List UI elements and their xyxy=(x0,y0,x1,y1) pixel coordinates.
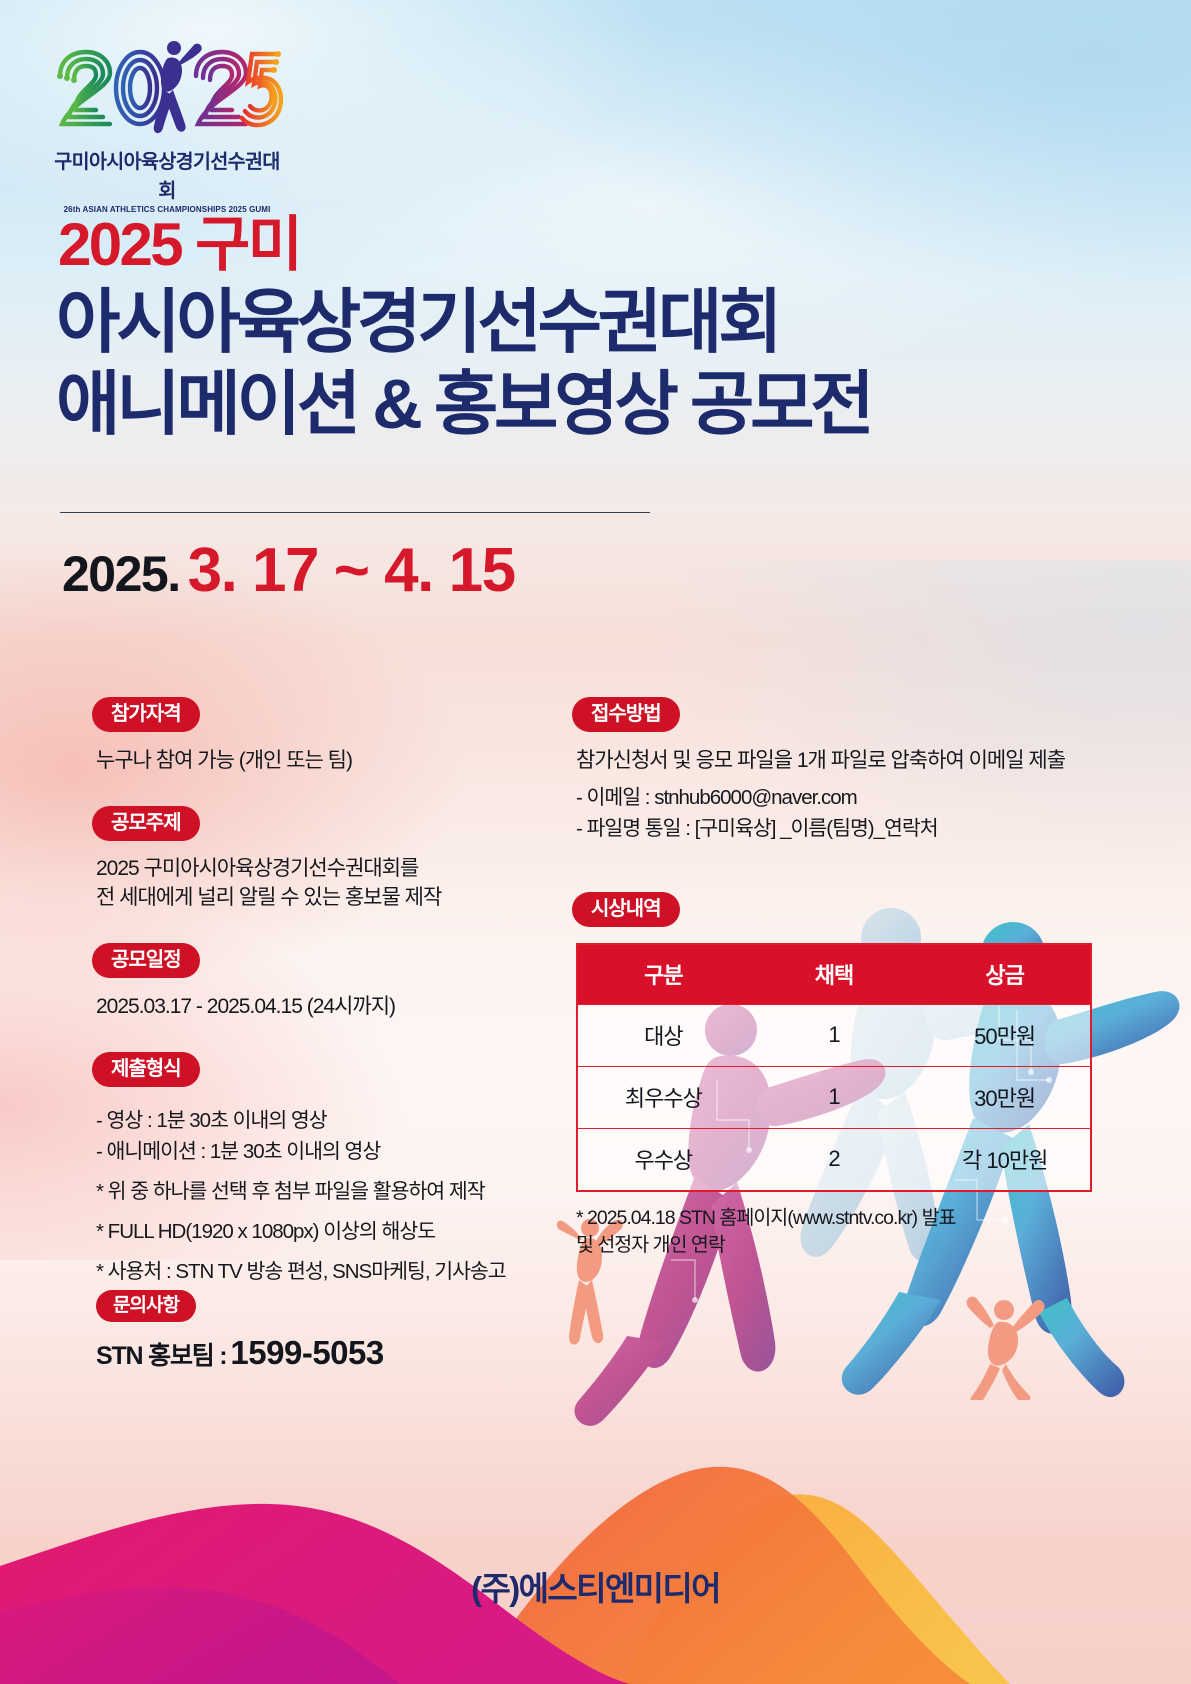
logo-2025-mark xyxy=(46,34,286,144)
section-format: 제출형식 - 영상 : 1분 30초 이내의 영상 - 애니메이션 : 1분 3… xyxy=(92,1052,562,1288)
prize-col-amount: 상금 xyxy=(919,945,1090,1005)
table-row: 대상 1 50만원 xyxy=(578,1005,1090,1067)
submission-item: - 파일명 통일 : [구미육상] _이름(팀명)_연락처 xyxy=(576,813,1112,844)
poster-headline: 2025 구미 아시아육상경기선수권대회 애니메이션 & 홍보영상 공모전 xyxy=(56,215,1066,442)
pill-eligibility: 참가자격 xyxy=(92,697,200,732)
format-item: - 영상 : 1분 30초 이내의 영상 xyxy=(96,1105,562,1136)
inquiry-phone: 1599-5053 xyxy=(230,1334,383,1371)
section-awards: 시상내역 구분 채택 상금 대상 1 50만원 xyxy=(572,892,1112,1259)
logo-korean-name: 구미아시아육상경기선수권대회 xyxy=(46,145,288,203)
headline-line-2: 아시아육상경기선수권대회 xyxy=(56,285,1066,361)
format-item: - 애니메이션 : 1분 30초 이내의 영상 xyxy=(96,1136,562,1167)
date-banner: 2025.3. 17 ~ 4. 15 xyxy=(62,535,515,606)
inquiry-label: STN 홍보팀 : xyxy=(96,1342,226,1370)
table-row: 우수상 2 각 10만원 xyxy=(578,1129,1090,1191)
poster-canvas: 구미아시아육상경기선수권대회 26th ASIAN ATHLETICS CHAM… xyxy=(0,0,1191,1684)
headline-line-3: 애니메이션 & 홍보영상 공모전 xyxy=(56,367,1066,443)
section-eligibility: 참가자격 누구나 참여 가능 (개인 또는 팀) xyxy=(92,697,562,776)
schedule-text: 2025.03.17 - 2025.04.15 (24시까지) xyxy=(96,992,562,1022)
submission-item: - 이메일 : stnhub6000@naver.com xyxy=(576,782,1112,813)
section-theme: 공모주제 2025 구미아시아육상경기선수권대회를 전 세대에게 널리 알릴 수… xyxy=(92,806,562,913)
prize-table-wrapper: 구분 채택 상금 대상 1 50만원 최우수상 1 xyxy=(576,943,1092,1192)
section-submission: 접수방법 참가신청서 및 응모 파일을 1개 파일로 압축하여 이메일 제출 -… xyxy=(572,697,1112,844)
prize-col-count: 채택 xyxy=(749,945,920,1005)
inquiry-contact-line: STN 홍보팀 :1599-5053 xyxy=(96,1334,384,1372)
organizer-name: (주)에스티엔미디어 xyxy=(471,1570,720,1607)
prize-table: 구분 채택 상금 대상 1 50만원 최우수상 1 xyxy=(578,945,1090,1190)
section-inquiry: 문의사항 STN 홍보팀 :1599-5053 xyxy=(96,1290,384,1372)
prize-cell-count: 2 xyxy=(749,1129,920,1191)
awards-note-line-2: 및 선정자 개인 연락 xyxy=(576,1232,1112,1259)
prize-cell-count: 1 xyxy=(749,1067,920,1129)
prize-cell-category: 최우수상 xyxy=(578,1067,749,1129)
pill-inquiry: 문의사항 xyxy=(96,1290,196,1322)
table-row: 최우수상 1 30만원 xyxy=(578,1067,1090,1129)
pill-format: 제출형식 xyxy=(92,1052,200,1087)
format-item: * FULL HD(1920 x 1080px) 이상의 해상도 xyxy=(96,1216,562,1247)
mountain-decoration xyxy=(0,1354,1191,1684)
pill-awards: 시상내역 xyxy=(572,892,680,927)
small-runner-figure-right xyxy=(960,1290,1050,1400)
event-logo: 구미아시아육상경기선수권대회 26th ASIAN ATHLETICS CHAM… xyxy=(46,34,296,214)
pill-submission: 접수방법 xyxy=(572,697,680,732)
headline-line-1: 2025 구미 xyxy=(58,215,1066,275)
section-schedule: 공모일정 2025.03.17 - 2025.04.15 (24시까지) xyxy=(92,943,562,1022)
left-info-column: 참가자격 누구나 참여 가능 (개인 또는 팀) 공모주제 2025 구미아시아… xyxy=(92,697,562,1287)
eligibility-text: 누구나 참여 가능 (개인 또는 팀) xyxy=(96,746,562,776)
theme-line-1: 2025 구미아시아육상경기선수권대회를 xyxy=(96,855,562,884)
date-range: 3. 17 ~ 4. 15 xyxy=(188,536,515,605)
prize-cell-amount: 50만원 xyxy=(919,1005,1090,1067)
format-item: * 위 중 하나를 선택 후 첨부 파일을 활용하여 제작 xyxy=(96,1176,562,1207)
theme-line-2: 전 세대에게 널리 알릴 수 있는 홍보물 제작 xyxy=(96,884,562,913)
format-item: * 사용처 : STN TV 방송 편성, SNS마케팅, 기사송고 xyxy=(96,1256,562,1287)
headline-divider xyxy=(60,512,650,513)
awards-note-line-1: * 2025.04.18 STN 홈페이지(www.stntv.co.kr) 발… xyxy=(576,1205,1112,1232)
date-year: 2025. xyxy=(62,546,180,602)
submission-intro: 참가신청서 및 응모 파일을 1개 파일로 압축하여 이메일 제출 xyxy=(576,746,1112,776)
poster-footer: (주)에스티엔미디어 xyxy=(0,1562,1191,1610)
prize-cell-category: 대상 xyxy=(578,1005,749,1067)
pill-schedule: 공모일정 xyxy=(92,943,200,978)
prize-cell-category: 우수상 xyxy=(578,1129,749,1191)
prize-cell-amount: 30만원 xyxy=(919,1067,1090,1129)
prize-table-header-row: 구분 채택 상금 xyxy=(578,945,1090,1005)
prize-cell-count: 1 xyxy=(749,1005,920,1067)
prize-cell-amount: 각 10만원 xyxy=(919,1129,1090,1191)
pill-theme: 공모주제 xyxy=(92,806,200,841)
right-info-column: 접수방법 참가신청서 및 응모 파일을 1개 파일로 압축하여 이메일 제출 -… xyxy=(572,697,1112,1259)
prize-col-category: 구분 xyxy=(578,945,749,1005)
